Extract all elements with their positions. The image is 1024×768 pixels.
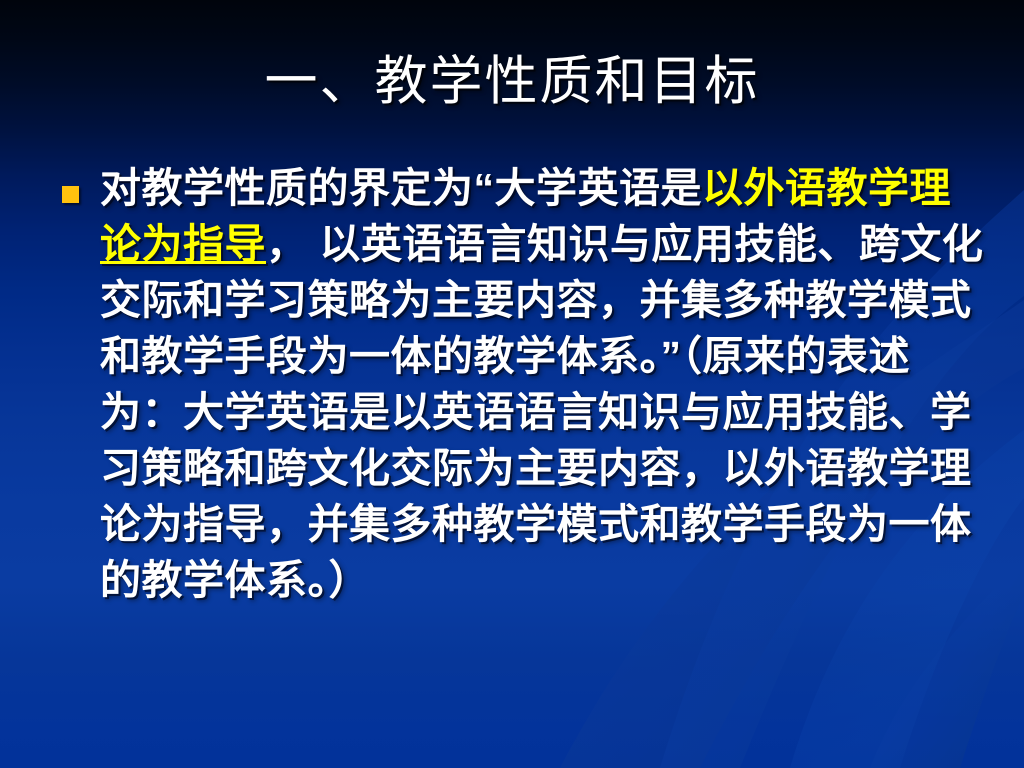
slide-title-area: 一、教学性质和目标: [0, 52, 1024, 113]
presentation-slide: 一、教学性质和目标 对教学性质的界定为“大学英语是以外语教学理论为指导， 以英语…: [0, 0, 1024, 768]
body-segment-highlight: 以外语教学理: [702, 165, 951, 211]
bullet-list-item: 对教学性质的界定为“大学英语是以外语教学理论为指导， 以英语语言知识与应用技能、…: [56, 160, 986, 608]
slide-title: 一、教学性质和目标: [265, 52, 760, 113]
body-paragraph: 对教学性质的界定为“大学英语是以外语教学理论为指导， 以英语语言知识与应用技能、…: [100, 160, 986, 608]
slide-body-area: 对教学性质的界定为“大学英语是以外语教学理论为指导， 以英语语言知识与应用技能、…: [56, 160, 986, 608]
body-segment-plain-1: 对教学性质的界定为“大学英语是: [100, 165, 702, 211]
body-segment-plain-2: ， 以英语语言知识与应用技能、跨文化交际和学习策略为主要内容，并集多种教学模式和…: [100, 221, 983, 603]
body-segment-highlight-underlined: 论为指导: [100, 221, 266, 267]
square-bullet-icon: [62, 186, 79, 203]
